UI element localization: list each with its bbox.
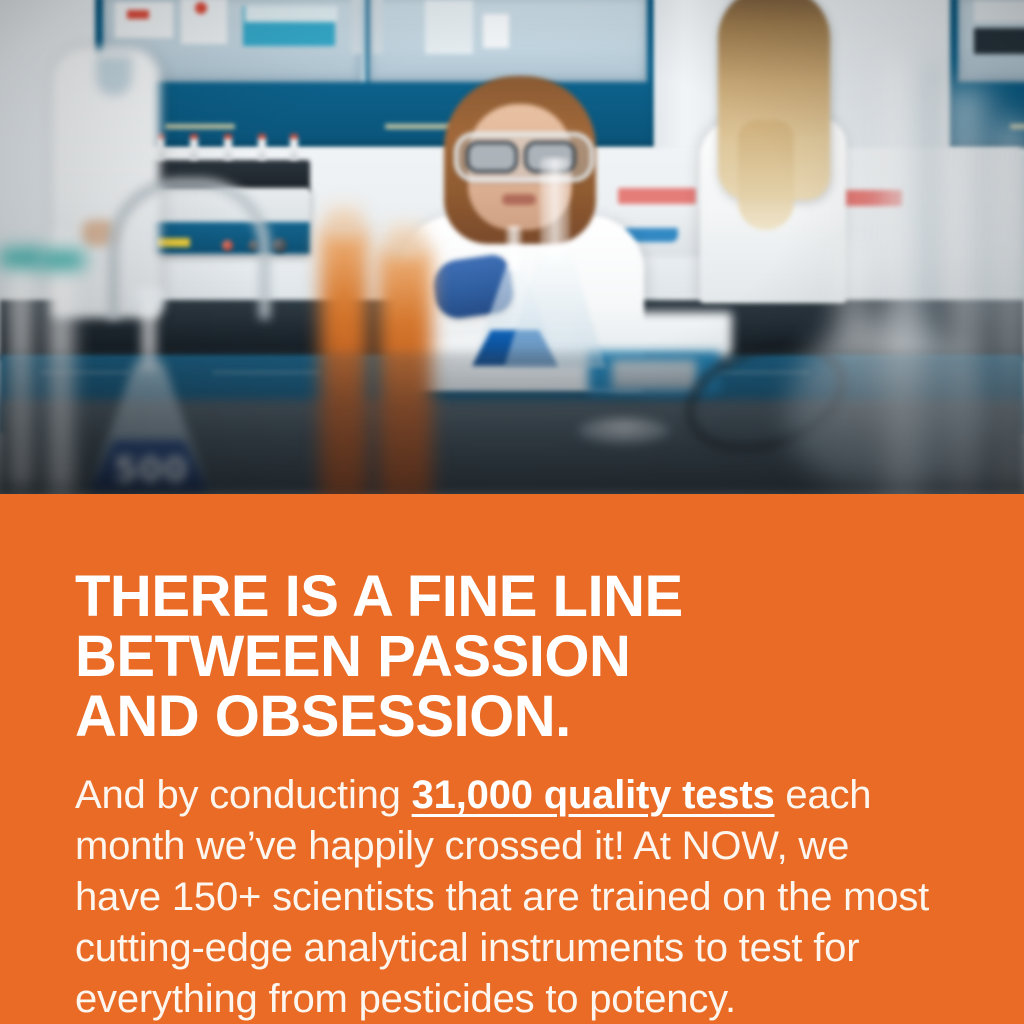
shelf-label	[127, 10, 149, 19]
hair-strands	[738, 120, 794, 230]
body-copy-highlight: 31,000 quality tests	[412, 773, 775, 817]
shelf-bottle	[483, 14, 509, 48]
message-panel: THERE IS A FINE LINE BETWEEN PASSION AND…	[0, 494, 1024, 1024]
pipette-cap	[0, 250, 44, 266]
body-copy: And by conducting 31,000 quality tests e…	[75, 770, 935, 1024]
reagent-bottle-cap	[326, 206, 362, 236]
shelf-bottle	[373, 0, 383, 54]
social-card: 500 THERE IS A FINE LINE BETWEEN PASSION…	[0, 0, 1024, 1024]
sample-vial	[190, 134, 198, 160]
sample-vial	[258, 134, 266, 160]
shelf-box	[974, 28, 1024, 54]
instrument-vial-rack	[150, 134, 302, 164]
sample-vial	[224, 134, 232, 160]
shelf-bottle	[351, 0, 361, 54]
shelf-box	[115, 2, 173, 38]
background-scientist-right	[690, 0, 850, 300]
shelf-label	[195, 2, 207, 14]
shelf-box	[425, 0, 473, 54]
cabinet-handle	[165, 124, 235, 129]
shelf-reagent-cap	[245, 6, 337, 22]
instrument-knob	[272, 238, 287, 253]
sample-vial	[290, 134, 298, 160]
lab-photo: 500	[0, 0, 1024, 494]
cabinet-door-divider	[361, 0, 366, 82]
reagent-bottle-cap	[386, 224, 424, 256]
body-copy-part1: And by conducting	[75, 773, 412, 817]
flask-neck-right	[838, 246, 870, 342]
separatory-funnel	[500, 158, 610, 368]
foreground-bench-shadow	[0, 352, 1024, 494]
funnel-bulb	[504, 254, 606, 368]
lab-coat-collar	[96, 56, 132, 96]
pipette-cap	[40, 252, 84, 268]
funnel-stem	[540, 158, 570, 266]
flexible-hose	[108, 178, 270, 319]
headline: THERE IS A FINE LINE BETWEEN PASSION AND…	[75, 567, 975, 747]
shelf-box	[974, 0, 1024, 22]
